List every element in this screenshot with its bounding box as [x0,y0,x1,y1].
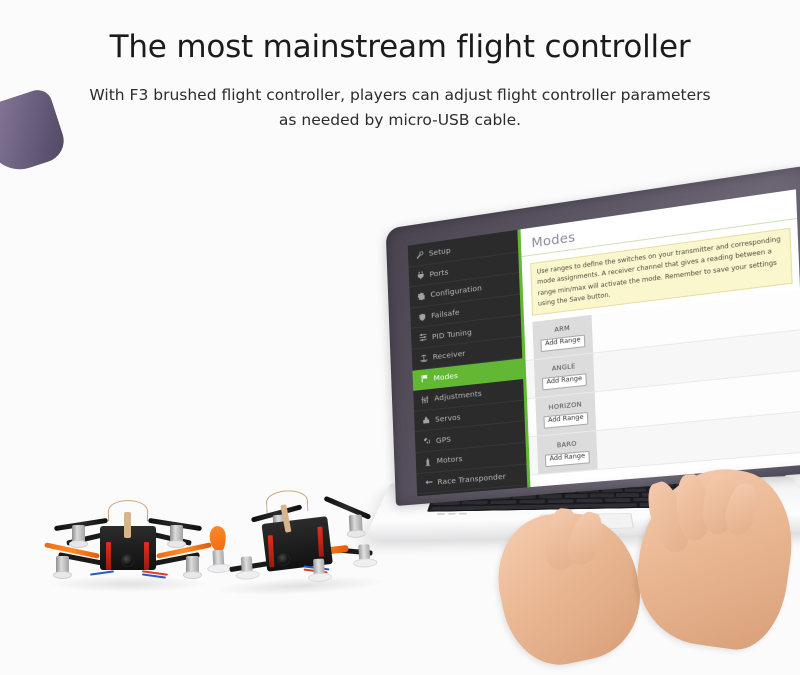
flag-icon [421,374,429,383]
sidebar-item-label: Servos [435,412,461,424]
drone-camera [121,554,134,567]
mode-label-cell: HORIZON Add Range [535,393,596,436]
transponder-icon [424,478,432,487]
port-slot [459,513,467,515]
key[interactable] [490,500,517,504]
drone-antenna [265,489,308,513]
sidebar-item-label: Failsafe [431,308,460,321]
drone-motor [170,525,183,544]
key[interactable] [576,499,602,503]
key[interactable] [625,488,647,492]
add-range-button[interactable]: Add Range [540,334,585,352]
hero-subtitle: With F3 brushed flight controller, playe… [0,83,800,133]
stand-base [207,563,231,573]
drone-frame-rail [144,542,149,570]
drone-motor [186,556,199,575]
shield-icon [418,312,426,321]
laptop-lid: Setup Ports Configuration Failsafe PID T [386,165,800,506]
sidebar-item-label: Race Transponder [437,471,506,486]
sliders-icon [419,333,427,342]
motor-cap [167,540,186,548]
motor-cap [69,540,88,548]
key[interactable] [564,494,587,498]
sidebar-item-label: LED Strip [438,495,474,496]
drone-motor [56,556,69,575]
key[interactable] [604,498,630,502]
equalizer-icon [421,395,429,404]
servo-icon [422,416,430,425]
drone-frame-rail [106,542,111,570]
plug-icon [417,271,425,280]
motor-cap [347,529,366,538]
key[interactable] [616,493,640,497]
motor-cap [183,571,202,579]
spare-propeller [209,526,226,553]
port-slot [448,513,456,515]
drone-antenna [108,500,148,522]
mode-label-cell: ANGLE Add Range [534,354,595,398]
mode-name: ANGLE [552,363,576,373]
mode-label-cell: BARO Add Range [537,431,598,474]
drone-motor [72,525,85,544]
drone-motor [349,515,363,535]
key[interactable] [539,494,562,498]
sidebar-item-label: Adjustments [434,389,482,403]
page-title: The most mainstream flight controller [0,28,800,67]
sidebar-item-label: Motors [437,454,463,465]
propeller-black [323,496,371,520]
gear-icon [417,292,425,301]
key[interactable] [461,501,488,505]
mode-label-cell: ARM Add Range [532,315,593,359]
antenna-icon [420,354,428,363]
port-slot [437,513,445,515]
satellite-icon [423,437,431,446]
key[interactable] [548,499,574,503]
drone-angled-view [203,481,388,598]
drone-front-view [42,492,214,592]
sidebar: Setup Ports Configuration Failsafe PID T [408,229,531,496]
add-range-button[interactable]: Add Range [543,412,589,429]
mode-name: ARM [554,325,570,334]
motor-cap [53,571,72,579]
motor-icon [424,457,432,466]
betaflight-configurator-screen: Setup Ports Configuration Failsafe PID T [408,189,800,496]
add-range-button[interactable]: Add Range [542,373,588,390]
sidebar-item-label: PID Tuning [432,327,472,341]
sidebar-item-label: Setup [429,246,451,258]
modes-panel: Modes Use ranges to define the switches … [520,189,800,487]
sidebar-item-label: Configuration [430,284,482,300]
hero-subtitle-line-1: With F3 brushed flight controller, playe… [0,83,800,108]
hero-subtitle-line-2: as needed by micro-USB cable. [0,108,800,133]
mode-name: HORIZON [548,401,582,412]
stand-base [353,558,377,568]
drone-wire [90,570,114,575]
key[interactable] [590,493,614,497]
mode-name: BARO [557,440,577,449]
sidebar-item-label: Modes [433,371,458,383]
sidebar-item-label: Ports [429,267,448,279]
drone-shadow [50,576,206,592]
hero-section: The most mainstream flight controller Wi… [0,28,800,132]
stand-base [236,570,260,580]
wrench-icon [416,250,424,259]
sidebar-item-label: Receiver [433,349,466,362]
add-range-button[interactable]: Add Range [545,451,591,467]
key[interactable] [519,500,545,504]
modes-list: ARM Add Range ANGLE Add Range [524,290,800,476]
sidebar-item-label: GPS [436,434,451,445]
